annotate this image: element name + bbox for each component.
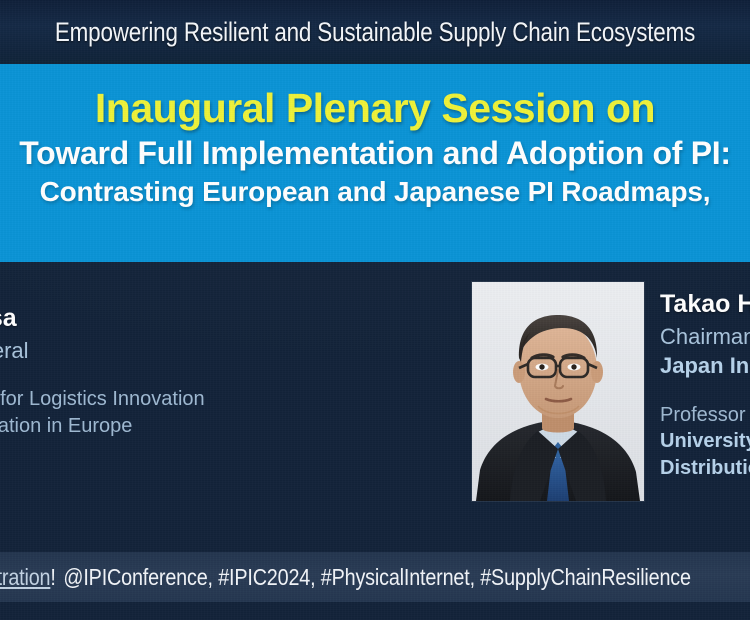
title-band-inner: Inaugural Plenary Session on Toward Full… bbox=[0, 64, 750, 208]
speaker-right-affiliation-line-3: Distribution Science bbox=[660, 455, 750, 482]
session-title-line: Inaugural Plenary Session on bbox=[0, 88, 750, 130]
speaker-right-affiliation-line-1: Professor Emeritus bbox=[660, 402, 750, 429]
header-tagline: Empowering Resilient and Sustainable Sup… bbox=[64, 0, 687, 64]
portrait-illustration bbox=[472, 282, 644, 501]
speaker-left-name: Fabrizio Liesa bbox=[0, 304, 250, 334]
bottom-banner-exclamation: ! bbox=[50, 564, 55, 591]
speaker-block-left: Fabrizio Liesa Secretary General ALICE -… bbox=[0, 304, 250, 440]
speaker-portrait-photo bbox=[472, 282, 644, 501]
bottom-banner: events/registration ! @IPIConference, #I… bbox=[0, 552, 750, 602]
spacer bbox=[660, 380, 750, 402]
speaker-block-right: Takao Hayashi Chairman Japan Institute o… bbox=[660, 290, 750, 482]
registration-link[interactable]: events/registration bbox=[0, 564, 50, 591]
bottom-banner-hashtags: @IPIConference, #IPIC2024, #PhysicalInte… bbox=[63, 564, 690, 591]
bottom-banner-inner: events/registration ! @IPIConference, #I… bbox=[0, 552, 691, 602]
spacer bbox=[0, 364, 250, 386]
title-band: Inaugural Plenary Session on Toward Full… bbox=[0, 64, 750, 262]
presentation-slide: Empowering Resilient and Sustainable Sup… bbox=[0, 0, 750, 620]
speaker-right-role: Chairman bbox=[660, 323, 750, 351]
session-subtitle-line-1: Toward Full Implementation and Adoption … bbox=[0, 136, 750, 171]
speaker-left-affiliation-line-1: ALICE - Alliance for Logistics Innovatio… bbox=[0, 386, 250, 413]
speaker-right-organization: Japan Institute of Logistics Systems bbox=[660, 352, 750, 380]
speaker-left-role: Secretary General bbox=[0, 337, 250, 365]
speaker-right-affiliation-line-2: University of Tokyo, bbox=[660, 428, 750, 455]
speaker-right-name: Takao Hayashi bbox=[660, 290, 750, 320]
session-subtitle-line-2: Contrasting European and Japanese PI Roa… bbox=[0, 177, 750, 207]
speaker-left-affiliation-line-2: through Collaboration in Europe bbox=[0, 413, 250, 440]
